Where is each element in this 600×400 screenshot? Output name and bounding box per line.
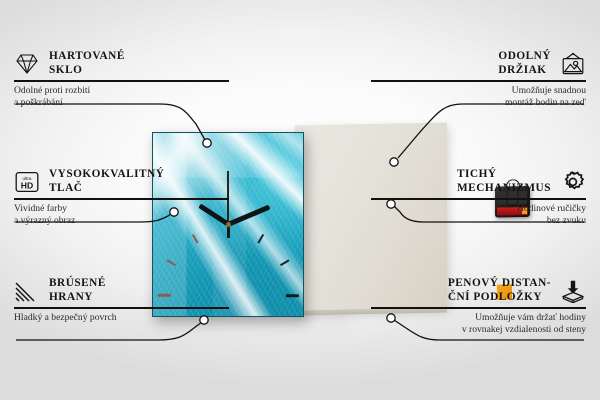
callout-header: TICHÝ MECHANIZMUS [371,168,586,198]
callout-header: PENOVÝ DISTAN- ČNÍ PODLOŽKY [371,277,586,307]
callout-description: Umožňuje vám držať hodiny v rovnakej vzd… [371,309,586,337]
callout-description: Umožňuje snadnou montáž hodin na zeď [371,82,586,110]
diamond-icon [14,52,40,76]
callout-title-line1: HARTOVANÉ [49,50,125,64]
callout-title-line2: SKLO [49,64,125,78]
callout-title-line2: ČNÍ PODLOŽKY [448,291,551,305]
callout-title-line1: BRÚSENÉ [49,277,106,291]
callout-desc-line2: v rovnakej vzdialenosti od steny [371,324,586,336]
callout-title-line2: HRANY [49,291,106,305]
callout-desc-line1: Umožňuje snadnou [371,85,586,97]
callout-title: TICHÝ MECHANIZMUS [457,168,551,195]
callout-description: Hladký a bezpečný povrch [14,309,229,324]
foam-pad-down-arrow-icon [560,279,586,303]
infographic-stage: HARTOVANÉ SKLO Odolné proti rozbití a po… [0,0,600,400]
callout-desc-line2: a výrazný obraz [14,215,229,227]
callout-header: ultra HD VYSOKOKVALITNÝ TLAČ [14,168,229,198]
callout-desc-line2: montáž hodin na zeď [371,97,586,109]
callout-header: ODOLNÝ DRŽIAK [371,50,586,80]
callout-title: VYSOKOKVALITNÝ TLAČ [49,168,164,195]
callout-desc-line1: Odolné proti rozbití [14,85,229,97]
callout-title-line1: VYSOKOKVALITNÝ [49,168,164,182]
gear-icon [560,170,586,194]
callout-desc-line1: Vividné farby [14,203,229,215]
callout-description: Odolné proti rozbití a poškrábání [14,82,229,110]
callout-description: Vividné farby a výrazný obraz [14,200,229,228]
callout-title: BRÚSENÉ HRANY [49,277,106,304]
callout-title-line1: TICHÝ [457,168,551,182]
callout-desc-line2: bez zvuku [371,215,586,227]
callout-title-line2: TLAČ [49,182,164,196]
callout-desc-line1: Umožňuje vám držať hodiny [371,312,586,324]
badge-large-text: HD [21,180,33,190]
callout-description: Hodinové ručičky bez zvuku [371,200,586,228]
callout-silent-mechanism: TICHÝ MECHANIZMUS Hodinové ručičky bez z… [371,168,586,227]
ultra-hd-badge-icon: ultra HD [14,170,40,194]
callout-title-line1: PENOVÝ DISTAN- [448,277,551,291]
callout-polished-edges: BRÚSENÉ HRANY Hladký a bezpečný povrch [14,277,229,324]
callout-tempered-glass: HARTOVANÉ SKLO Odolné proti rozbití a po… [14,50,229,109]
callout-title-line2: MECHANIZMUS [457,182,551,196]
brushed-edges-icon [14,279,40,303]
callout-header: HARTOVANÉ SKLO [14,50,229,80]
callout-title-line2: DRŽIAK [498,64,551,78]
callout-title: HARTOVANÉ SKLO [49,50,125,77]
callout-desc-line2: a poškrábání [14,97,229,109]
callout-title: PENOVÝ DISTAN- ČNÍ PODLOŽKY [448,277,551,304]
callout-desc-line1: Hodinové ručičky [371,203,586,215]
callout-title-line1: ODOLNÝ [498,50,551,64]
callout-title: ODOLNÝ DRŽIAK [498,50,551,77]
callout-foam-spacers: PENOVÝ DISTAN- ČNÍ PODLOŽKY Umožňuje vám… [371,277,586,336]
callout-high-quality-print: ultra HD VYSOKOKVALITNÝ TLAČ Vividné far… [14,168,229,227]
callout-header: BRÚSENÉ HRANY [14,277,229,307]
wall-mount-picture-icon [560,52,586,76]
callout-desc-line1: Hladký a bezpečný povrch [14,312,229,324]
callout-durable-mount: ODOLNÝ DRŽIAK Umožňuje snadnou montáž ho… [371,50,586,109]
